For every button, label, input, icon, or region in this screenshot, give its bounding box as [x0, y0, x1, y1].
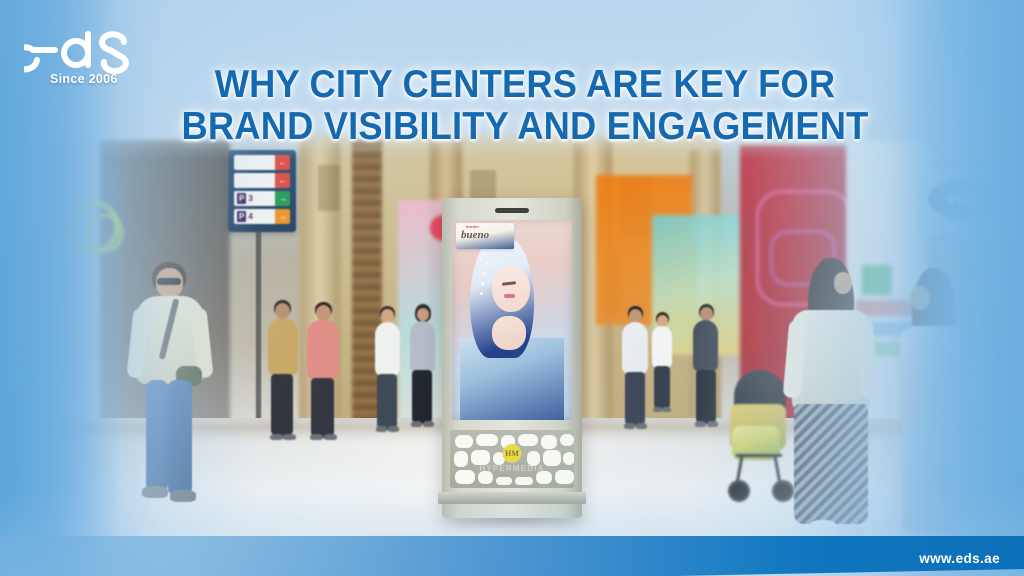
hypermedia-logo-icon: HM: [503, 444, 522, 463]
headline-line-1: WHY CITY CENTERS ARE KEY FOR: [158, 64, 893, 106]
arrow-right-icon: →: [275, 209, 290, 224]
kiosk-branding-panel: HM HYPERMEDIA: [450, 430, 574, 488]
arrow-left-icon: ←: [275, 155, 290, 170]
screen-glare: [452, 220, 572, 420]
sign-row-parking-4: P 4 →: [234, 209, 290, 224]
baby-stroller: [726, 368, 792, 508]
eds-social-banner: vtech ← ← P 3 → P 4: [0, 0, 1024, 576]
mall-directional-signboard: ← ← P 3 → P 4 →: [228, 150, 296, 232]
sign-row: ←: [234, 173, 290, 188]
hypermedia-brand-text: HYPERMEDIA: [450, 464, 574, 473]
vtech-store-sign: vtech: [916, 152, 1020, 236]
shopper-child-background: [650, 312, 674, 438]
sign-row-label: P 4: [234, 209, 275, 224]
kiosk-display-screen[interactable]: kinder bueno: [452, 220, 572, 420]
sign-row-label: [234, 155, 275, 170]
stroller-wheel: [728, 480, 750, 502]
vtech-subtitle-bar: [932, 160, 996, 169]
shopper-background: [406, 304, 438, 442]
kiosk-sensor-strip: [495, 208, 529, 213]
eds-logo-mark: [24, 28, 136, 72]
shopper-background: [618, 306, 652, 444]
page-title: WHY CITY CENTERS ARE KEY FOR BRAND VISIB…: [158, 64, 893, 147]
website-url[interactable]: www.eds.ae: [919, 551, 1000, 566]
footer-bar: www.eds.ae: [0, 536, 1024, 576]
shopper-foreground-right: [786, 258, 882, 536]
parking-letter: P: [237, 211, 246, 222]
footer-blue-band: [0, 536, 1024, 576]
vtech-logo-text: vtech: [928, 178, 1008, 220]
sign-row: ←: [234, 155, 290, 170]
parking-number: 3: [248, 194, 252, 203]
parking-number: 4: [248, 212, 252, 221]
neon-ring-secondary-icon: [86, 213, 124, 253]
shopper-foreground-far-right: [896, 268, 980, 536]
kiosk-base-plinth: [438, 492, 586, 504]
shopper-foreground-left: [128, 262, 218, 524]
sign-row-label: [234, 173, 275, 188]
hieroglyph-relief: [318, 165, 340, 211]
eds-logo-tagline: Since 2006: [50, 72, 118, 86]
sign-row-parking-3: P 3 →: [234, 191, 290, 206]
arrow-right-icon: →: [275, 191, 290, 206]
shopper-background: [262, 300, 302, 450]
headline-line-2: BRAND VISIBILITY AND ENGAGEMENT: [158, 106, 893, 148]
shopper-background: [370, 306, 404, 446]
shopper-background: [302, 302, 344, 450]
eds-logo[interactable]: Since 2006: [24, 28, 139, 94]
sign-row-label: P 3: [234, 191, 275, 206]
arrow-left-icon: ←: [275, 173, 290, 188]
shopper-background: [690, 304, 722, 442]
digital-advertising-kiosk: kinder bueno: [442, 198, 582, 518]
parking-letter: P: [237, 193, 246, 204]
vtech-logo-oval: vtech: [928, 178, 1008, 220]
